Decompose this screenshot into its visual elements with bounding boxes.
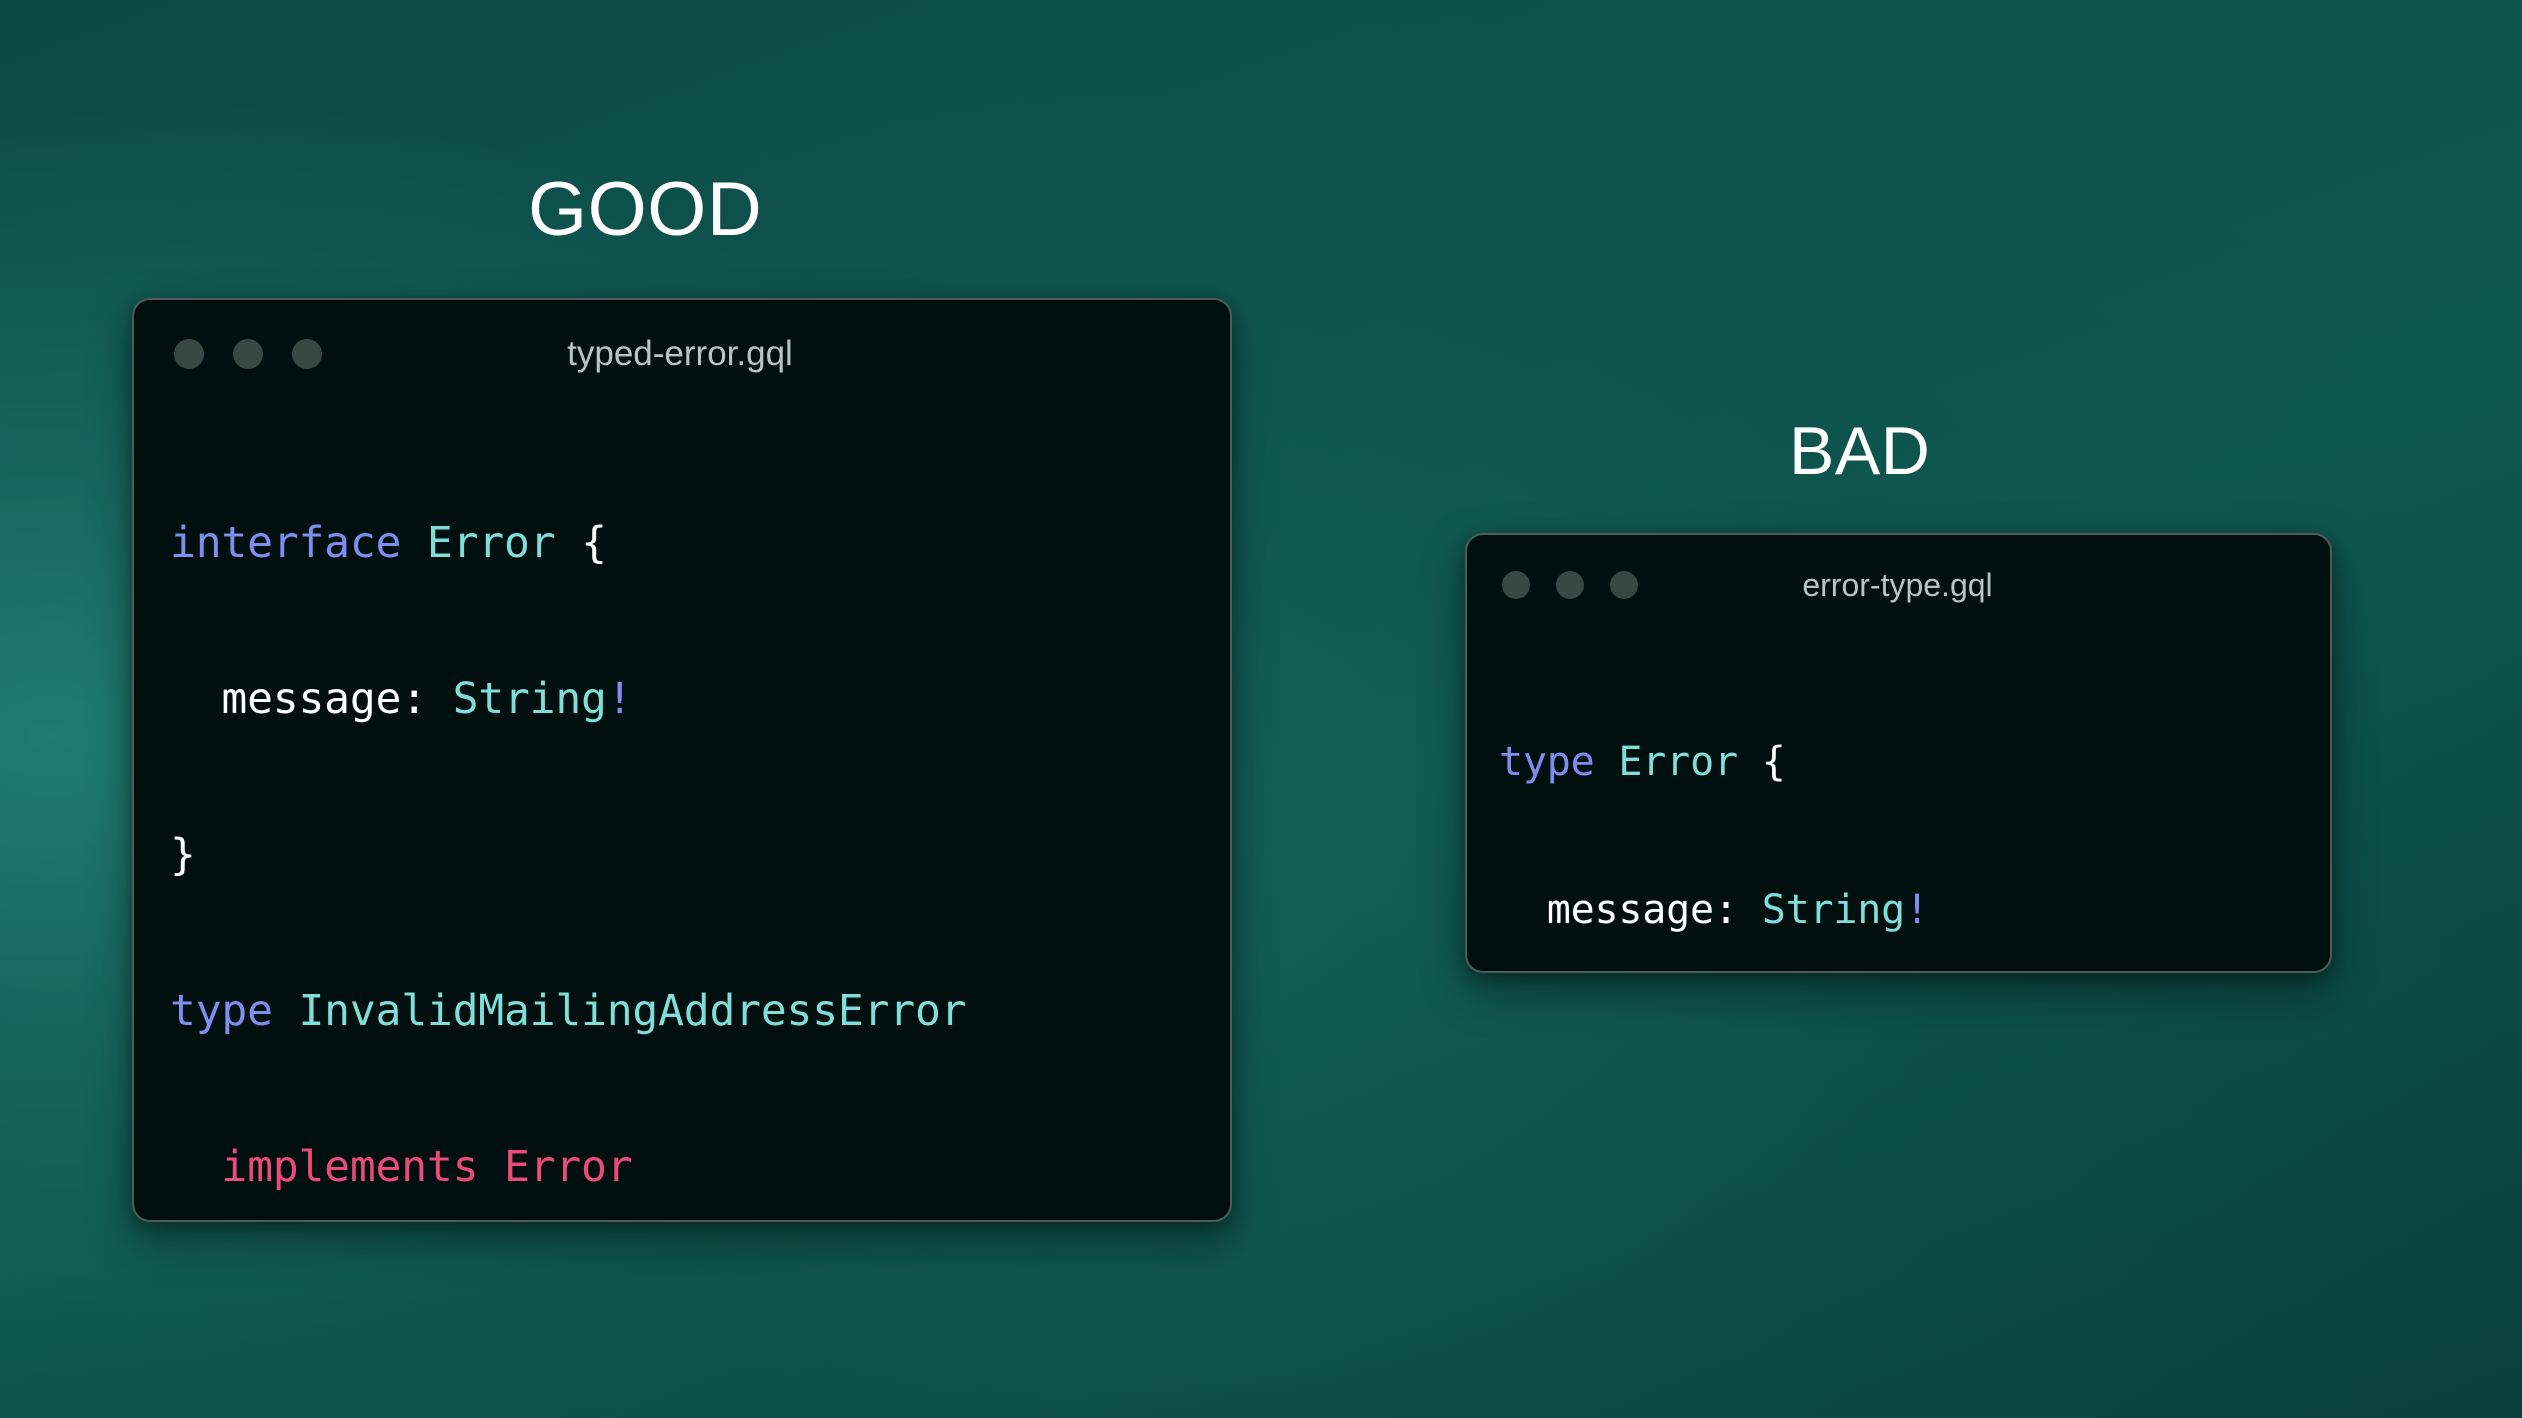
titlebar-good: typed-error.gql [134, 300, 1230, 408]
traffic-lights-bad [1502, 571, 1664, 599]
token-space [555, 518, 581, 568]
token-keyword: type [1499, 739, 1595, 785]
code-line: type InvalidMailingAddressError [170, 972, 1230, 1050]
token-colon: : [401, 674, 452, 724]
token-space [273, 986, 299, 1036]
token-implements: implements Error [221, 1142, 632, 1192]
token-nonnull: ! [607, 674, 633, 724]
code-line: message: String! [1499, 873, 2330, 947]
code-window-good: typed-error.gql interface Error { messag… [132, 298, 1232, 1222]
code-line: implements Error [170, 1128, 1230, 1206]
token-space [1738, 739, 1762, 785]
token-colon: : [1714, 887, 1762, 933]
token-value: String [1762, 887, 1905, 933]
code-line: } [170, 816, 1230, 894]
token-type-name: Error [427, 518, 555, 568]
token-space [401, 518, 427, 568]
token-space [1595, 739, 1619, 785]
code-block-good: interface Error { message: String! } typ… [134, 408, 1230, 1222]
code-line: type Error { [1499, 725, 2330, 799]
token-brace: { [1762, 739, 1786, 785]
bad-heading: BAD [1789, 417, 1930, 485]
traffic-lights-good [174, 339, 351, 369]
minimize-dot-icon[interactable] [1556, 571, 1584, 599]
close-dot-icon[interactable] [1502, 571, 1530, 599]
minimize-dot-icon[interactable] [233, 339, 263, 369]
token-brace: } [170, 830, 196, 880]
code-block-bad: type Error { message: String! } [1467, 635, 2330, 973]
good-heading: GOOD [528, 172, 762, 248]
token-field: message [1547, 887, 1714, 933]
close-dot-icon[interactable] [174, 339, 204, 369]
code-line: message: String! [170, 660, 1230, 738]
token-type-name: InvalidMailingAddressError [298, 986, 966, 1036]
token-field: message [221, 674, 401, 724]
token-type-name: Error [1618, 739, 1737, 785]
titlebar-bad: error-type.gql [1467, 535, 2330, 635]
slide-canvas: GOOD typed-error.gql interface Error { m… [0, 0, 2522, 1418]
code-window-bad: error-type.gql type Error { message: Str… [1465, 533, 2332, 973]
maximize-dot-icon[interactable] [292, 339, 322, 369]
token-nonnull: ! [1905, 887, 1929, 933]
code-line: interface Error { [170, 504, 1230, 582]
token-keyword: type [170, 986, 273, 1036]
token-value: String [453, 674, 607, 724]
token-brace: { [581, 518, 607, 568]
token-keyword: interface [170, 518, 401, 568]
maximize-dot-icon[interactable] [1610, 571, 1638, 599]
